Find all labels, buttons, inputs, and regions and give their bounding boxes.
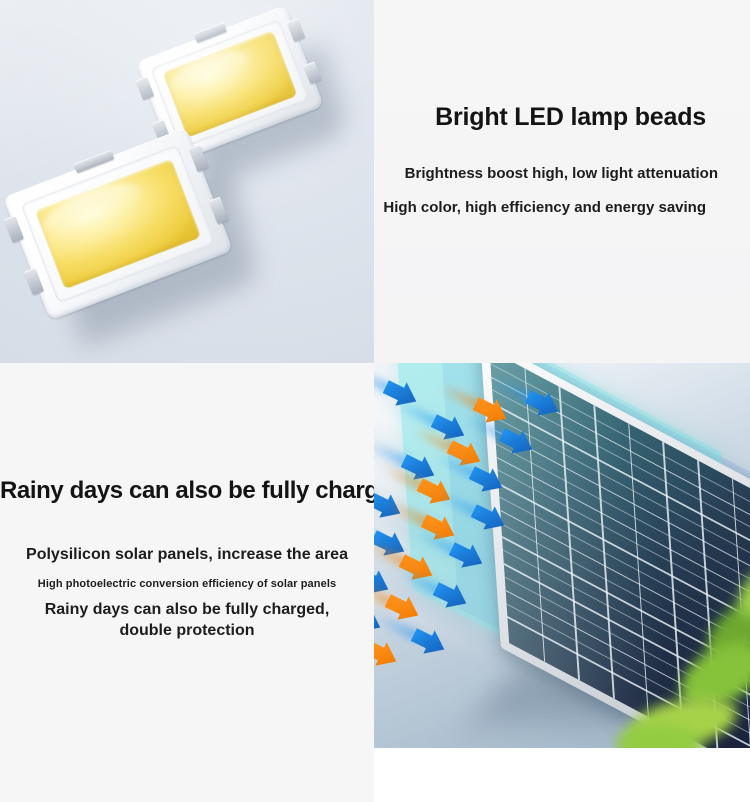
solar-line-2: High photoelectric conversion efficiency… [0, 578, 374, 590]
solar-line-1: Polysilicon solar panels, increase the a… [0, 546, 374, 564]
led-contact-tab [287, 19, 306, 42]
led-subline-2: High color, high efficiency and energy s… [374, 199, 706, 216]
solar-text-block: Rainy days can also be fully charged Pol… [0, 478, 374, 642]
led-subline-1: Brightness boost high, low light attenua… [374, 165, 718, 182]
solar-line-3: Rainy days can also be fully charged,dou… [0, 600, 374, 642]
led-beads-photo-panel [0, 0, 374, 363]
led-contact-tab [74, 150, 114, 173]
light-arrow-orange [374, 635, 402, 673]
led-contact-tab [24, 267, 44, 295]
led-contact-tab [136, 77, 155, 100]
led-text-panel: Bright LED lamp beads Brightness boost h… [374, 0, 750, 363]
solar-photo-background [374, 363, 750, 748]
led-bead-lower [3, 127, 233, 320]
led-photo-background [0, 0, 374, 363]
solar-headline: Rainy days can also be fully charged [0, 478, 374, 504]
solar-text-panel: Rainy days can also be fully charged Pol… [0, 363, 374, 802]
led-headline: Bright LED lamp beads [374, 104, 706, 132]
solar-panel-photo-panel [374, 363, 750, 748]
led-text-block: Bright LED lamp beads Brightness boost h… [374, 104, 706, 216]
product-infographic: Bright LED lamp beads Brightness boost h… [0, 0, 750, 802]
led-contact-tab [4, 215, 24, 243]
